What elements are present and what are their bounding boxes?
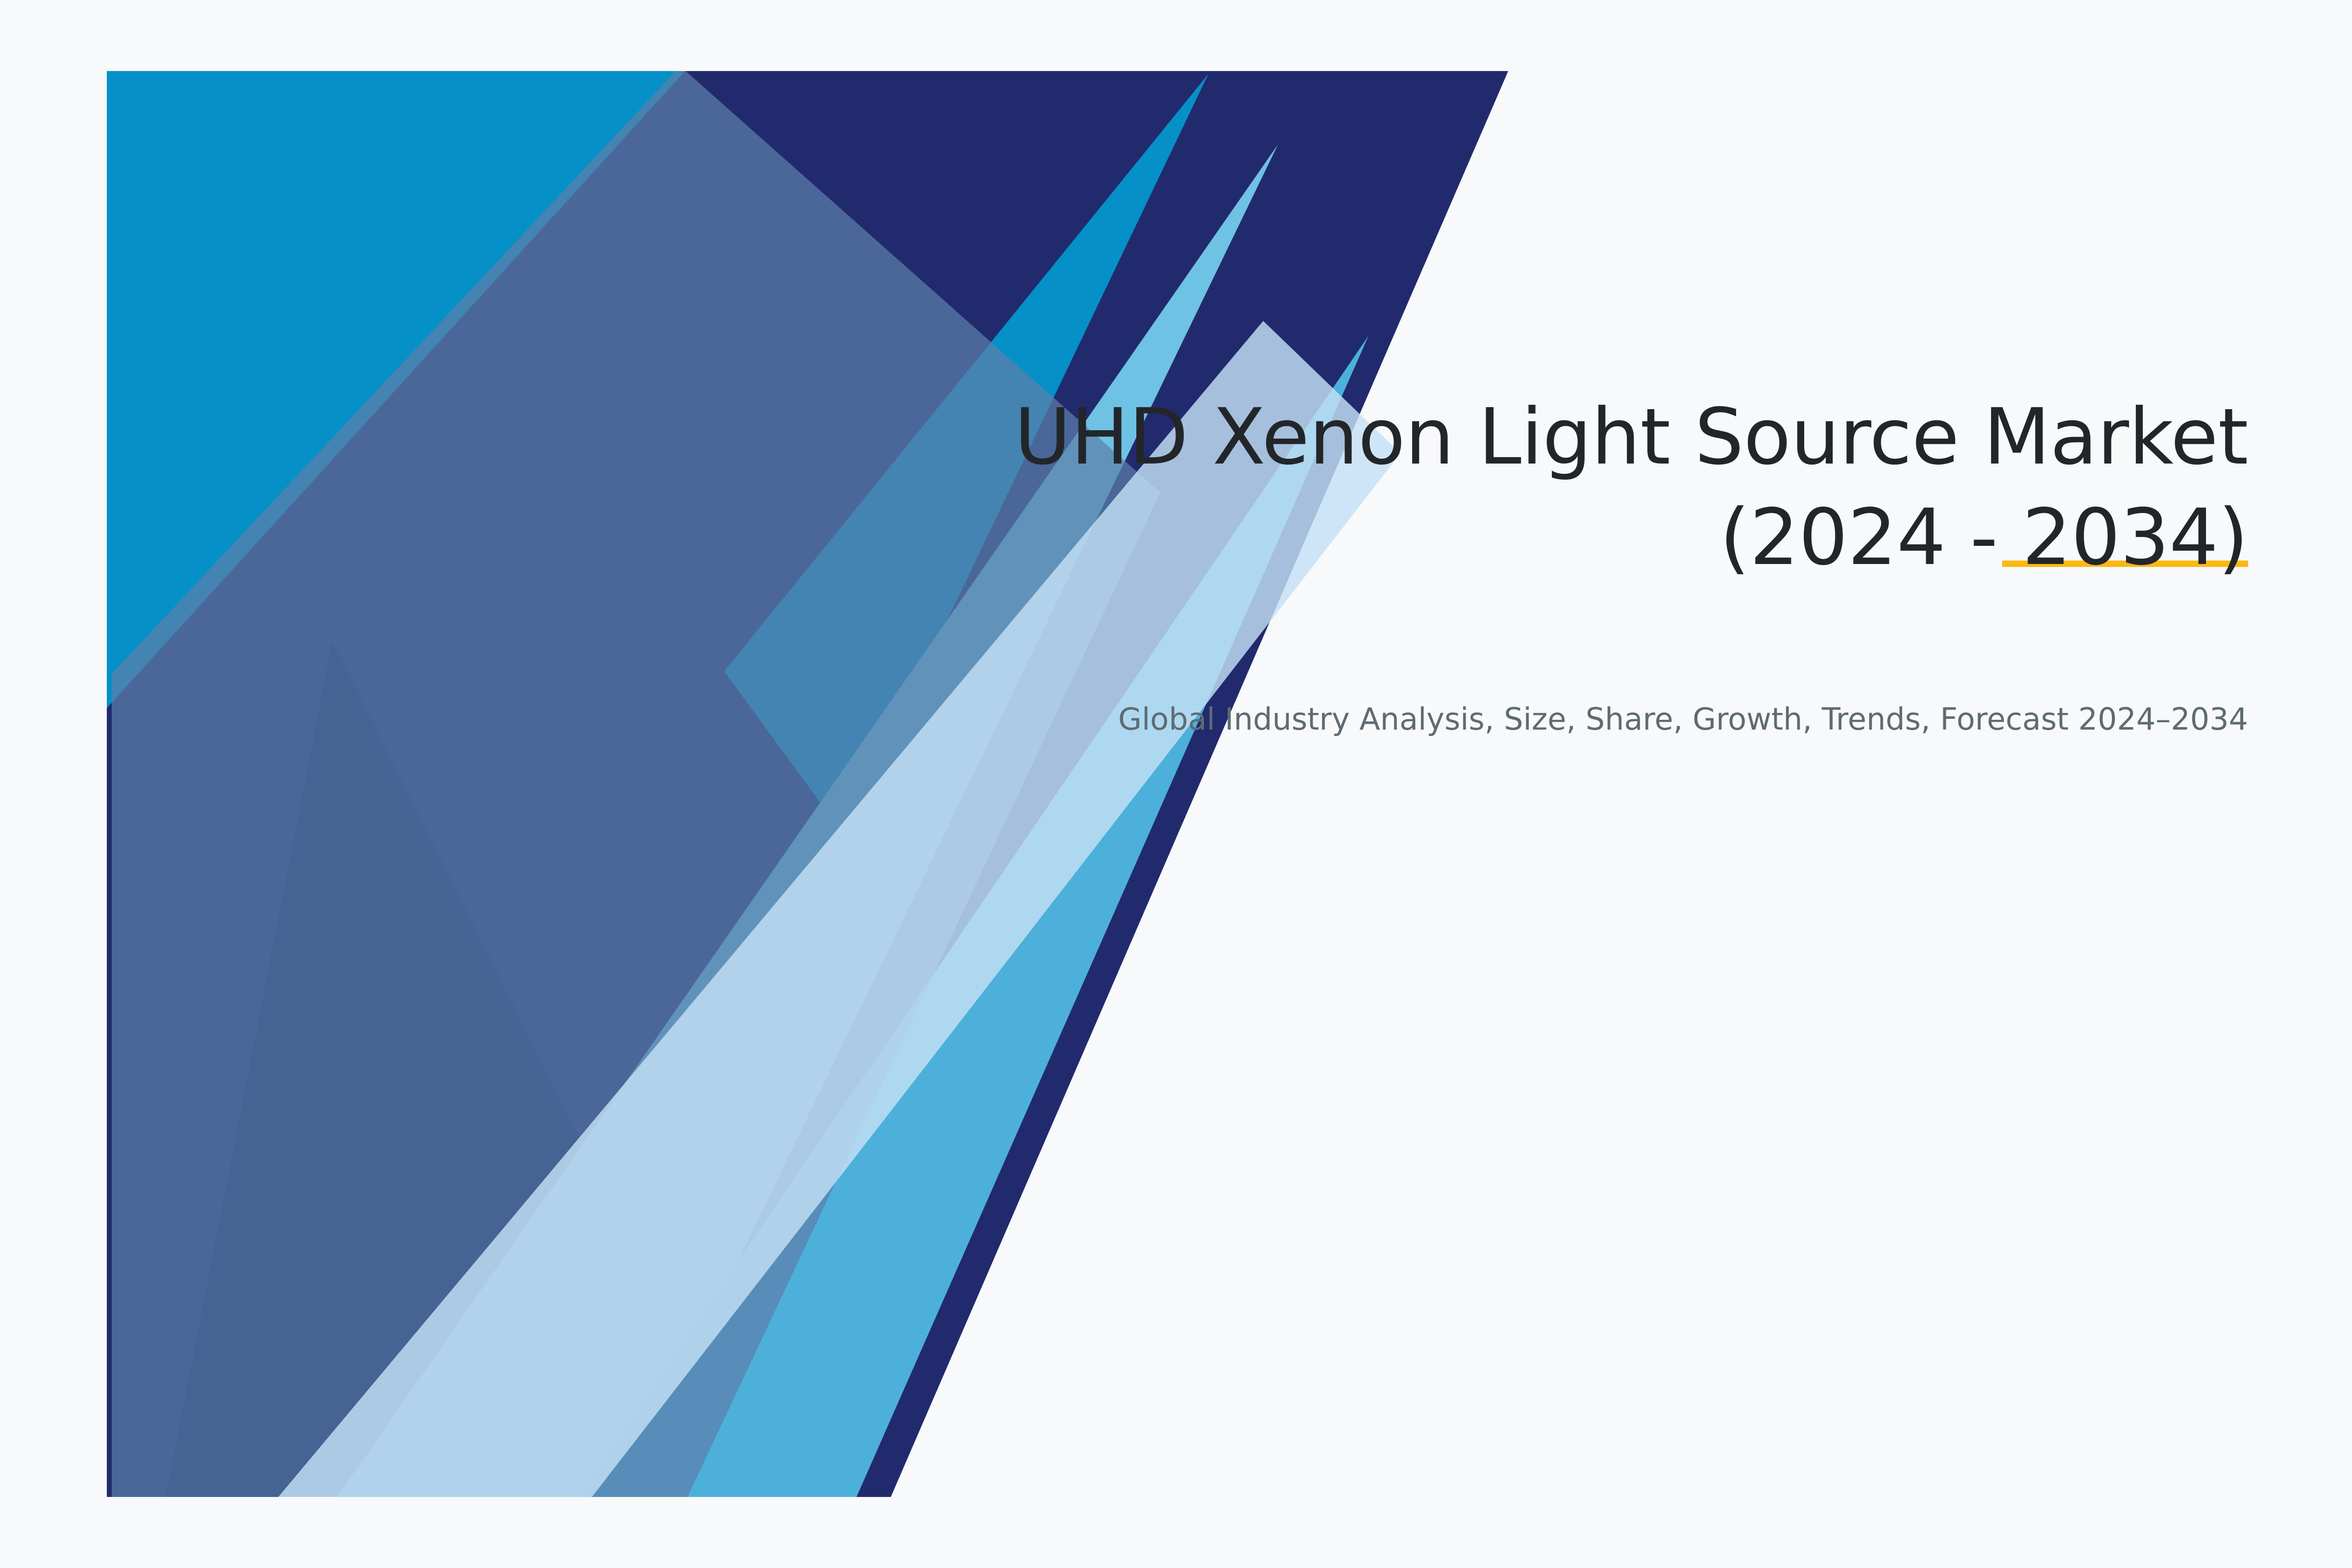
page-title: UHD Xenon Light Source Market (2024 - 20… xyxy=(788,387,2248,588)
page-subtitle: Global Industry Analysis, Size, Share, G… xyxy=(788,588,2248,741)
title-wrapper: UHD Xenon Light Source Market (2024 - 20… xyxy=(788,387,2248,588)
abstract-geometric-artwork xyxy=(107,71,1508,1497)
cover-page: UHD Xenon Light Source Market (2024 - 20… xyxy=(0,0,2352,1568)
cover-text-block: UHD Xenon Light Source Market (2024 - 20… xyxy=(788,387,2248,741)
artwork-svg xyxy=(107,71,1508,1497)
